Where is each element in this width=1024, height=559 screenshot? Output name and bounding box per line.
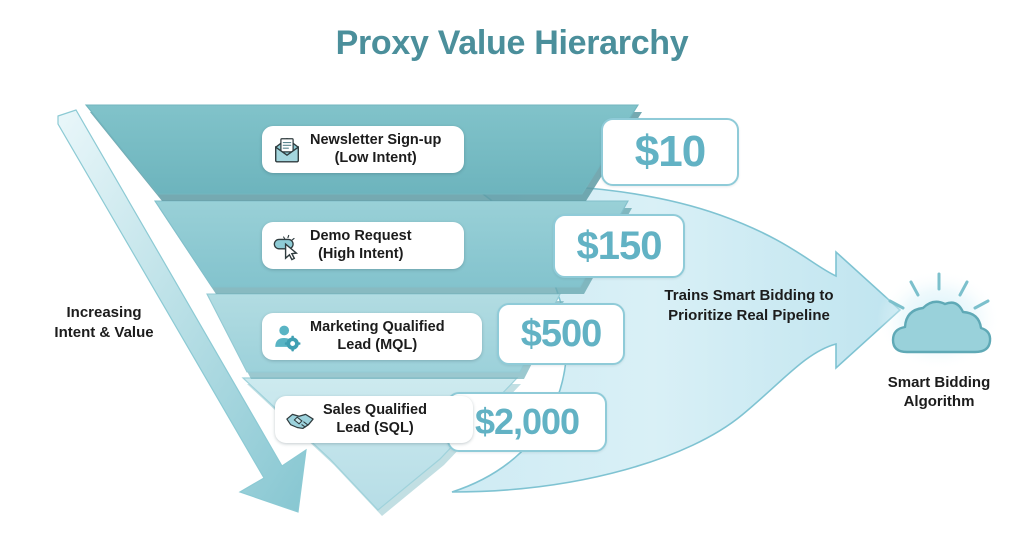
user-gear-icon bbox=[272, 322, 302, 352]
smart-bidding-label: Smart Bidding Algorithm bbox=[868, 374, 1010, 412]
stage-1-line1: Newsletter Sign-up bbox=[310, 132, 441, 150]
smart-bidding-target: Smart Bidding Algorithm bbox=[868, 268, 1010, 412]
increasing-intent-label: Increasing Intent & Value bbox=[18, 303, 190, 342]
funnel-stage-2-price: $150 bbox=[553, 214, 685, 278]
funnel-stage-3-label[interactable]: Marketing Qualified Lead (MQL) bbox=[262, 313, 482, 360]
funnel-stage-4-text: Sales Qualified Lead (SQL) bbox=[323, 402, 427, 437]
increasing-intent-line2: Intent & Value bbox=[18, 323, 190, 343]
page-title: Proxy Value Hierarchy bbox=[0, 24, 1024, 63]
stage-4-line2: Lead (SQL) bbox=[323, 420, 427, 438]
handshake-icon bbox=[285, 405, 315, 435]
stage-2-line1: Demo Request bbox=[310, 228, 412, 246]
funnel-stage-2-text: Demo Request (High Intent) bbox=[310, 228, 412, 263]
funnel-stage-1-label[interactable]: Newsletter Sign-up (Low Intent) bbox=[262, 126, 464, 173]
infographic-canvas: Proxy Value Hierarchy Increasing Intent … bbox=[0, 0, 1024, 559]
cloud-rays-icon bbox=[873, 268, 1005, 372]
funnel-stage-2-label[interactable]: Demo Request (High Intent) bbox=[262, 222, 464, 269]
cloud-label-line2: Algorithm bbox=[868, 393, 1010, 412]
increasing-intent-line1: Increasing bbox=[18, 303, 190, 323]
funnel-stage-4-label[interactable]: Sales Qualified Lead (SQL) bbox=[275, 396, 473, 443]
cloud-label-line1: Smart Bidding bbox=[868, 374, 1010, 393]
stage-4-line1: Sales Qualified bbox=[323, 402, 427, 420]
stage-2-line2: (High Intent) bbox=[310, 246, 412, 264]
funnel-stage-3-price: $500 bbox=[497, 303, 625, 365]
flow-arrow-caption: Trains Smart Bidding to Prioritize Real … bbox=[640, 286, 858, 326]
stage-1-line2: (Low Intent) bbox=[310, 150, 441, 168]
flow-caption-line2: Prioritize Real Pipeline bbox=[640, 306, 858, 326]
stage-3-line2: Lead (MQL) bbox=[310, 337, 445, 355]
flow-caption-line1: Trains Smart Bidding to bbox=[640, 286, 858, 306]
click-button-cursor-icon bbox=[272, 231, 302, 261]
funnel-stage-3-text: Marketing Qualified Lead (MQL) bbox=[310, 319, 445, 354]
stage-3-line1: Marketing Qualified bbox=[310, 319, 445, 337]
envelope-icon bbox=[272, 135, 302, 165]
funnel-stage-1-text: Newsletter Sign-up (Low Intent) bbox=[310, 132, 441, 167]
funnel-stage-1-price: $10 bbox=[601, 118, 739, 186]
